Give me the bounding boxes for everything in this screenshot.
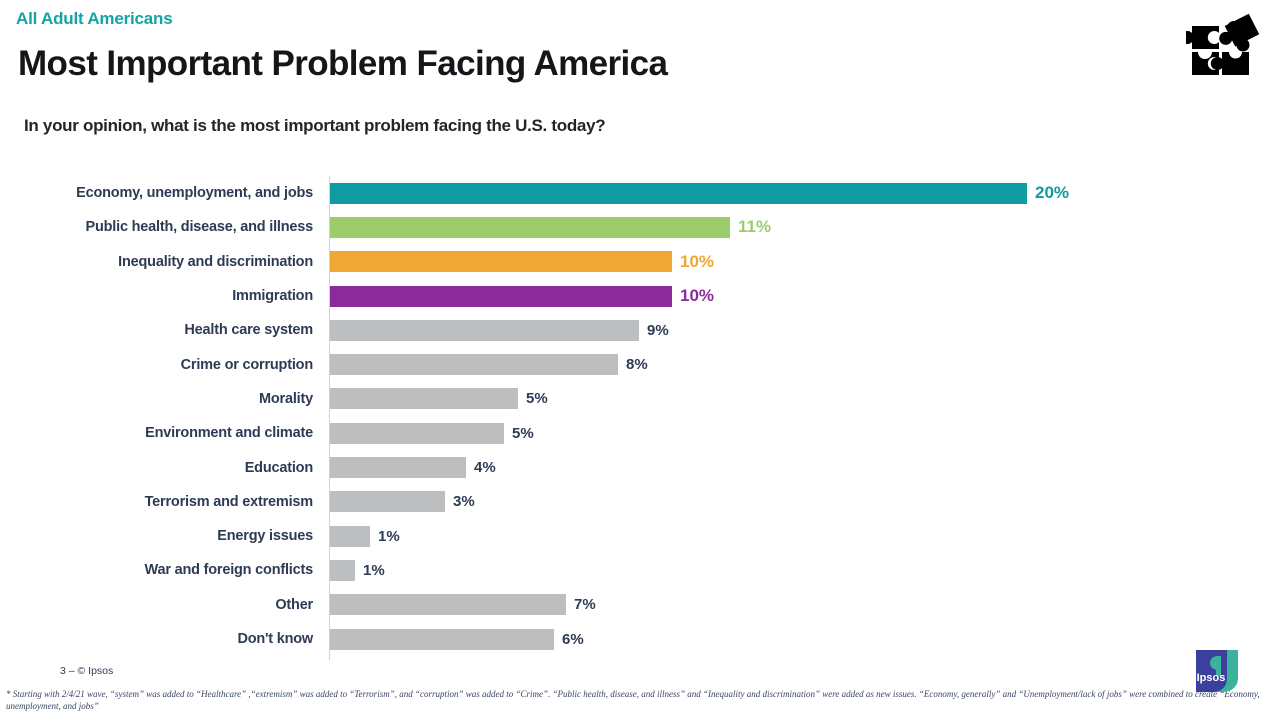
bar[interactable] xyxy=(330,457,466,478)
category-label: Energy issues xyxy=(0,528,313,544)
bar[interactable] xyxy=(330,560,355,581)
bar-area: 1% xyxy=(330,519,1280,553)
page-title: Most Important Problem Facing America xyxy=(18,44,667,84)
bar[interactable] xyxy=(330,423,504,444)
chart-row-5[interactable]: Crime or corruption 8% xyxy=(0,348,1280,382)
value-label: 9% xyxy=(647,322,669,339)
category-label: Other xyxy=(0,597,313,613)
bar[interactable] xyxy=(330,491,445,512)
value-label: 5% xyxy=(526,390,548,407)
value-label: 1% xyxy=(378,528,400,545)
chart-row-3[interactable]: Immigration 10% xyxy=(0,279,1280,313)
chart-row-10[interactable]: Energy issues 1% xyxy=(0,519,1280,553)
audience-eyebrow: All Adult Americans xyxy=(16,9,172,29)
value-label: 20% xyxy=(1035,183,1069,203)
bar[interactable] xyxy=(330,320,639,341)
chart-row-6[interactable]: Morality 5% xyxy=(0,382,1280,416)
puzzle-piece-logo xyxy=(1186,8,1268,86)
svg-text:Ipsos: Ipsos xyxy=(1197,672,1226,684)
category-label: Morality xyxy=(0,391,313,407)
chart-row-8[interactable]: Education 4% xyxy=(0,450,1280,484)
bar[interactable] xyxy=(330,183,1027,204)
bar[interactable] xyxy=(330,526,370,547)
category-label: Crime or corruption xyxy=(0,357,313,373)
bar-chart: Economy, unemployment, and jobs 20% Publ… xyxy=(0,176,1280,660)
bar-area: 4% xyxy=(330,450,1280,484)
bar-area: 1% xyxy=(330,553,1280,587)
bar[interactable] xyxy=(330,629,554,650)
bar[interactable] xyxy=(330,594,566,615)
chart-row-9[interactable]: Terrorism and extremism 3% xyxy=(0,485,1280,519)
bar[interactable] xyxy=(330,286,672,307)
category-label: Immigration xyxy=(0,288,313,304)
chart-row-7[interactable]: Environment and climate 5% xyxy=(0,416,1280,450)
category-label: Education xyxy=(0,460,313,476)
value-label: 7% xyxy=(574,596,596,613)
category-label: War and foreign conflicts xyxy=(0,562,313,578)
bar-area: 5% xyxy=(330,416,1280,450)
chart-row-0[interactable]: Economy, unemployment, and jobs 20% xyxy=(0,176,1280,210)
bar-area: 7% xyxy=(330,588,1280,622)
value-label: 10% xyxy=(680,252,714,272)
value-label: 3% xyxy=(453,493,475,510)
chart-row-2[interactable]: Inequality and discrimination 10% xyxy=(0,245,1280,279)
chart-row-13[interactable]: Don't know 6% xyxy=(0,622,1280,656)
bar-area: 3% xyxy=(330,485,1280,519)
bar-area: 5% xyxy=(330,382,1280,416)
slide-number: 3 – © Ipsos xyxy=(60,665,113,677)
ipsos-logo: Ipsos xyxy=(1194,648,1240,694)
value-label: 1% xyxy=(363,562,385,579)
category-label: Terrorism and extremism xyxy=(0,494,313,510)
bar[interactable] xyxy=(330,388,518,409)
value-label: 5% xyxy=(512,425,534,442)
category-label: Environment and climate xyxy=(0,425,313,441)
bar[interactable] xyxy=(330,217,730,238)
bar-area: 10% xyxy=(330,245,1280,279)
bar-area: 9% xyxy=(330,313,1280,347)
category-label: Economy, unemployment, and jobs xyxy=(0,185,313,201)
chart-row-4[interactable]: Health care system 9% xyxy=(0,313,1280,347)
value-label: 6% xyxy=(562,631,584,648)
chart-row-1[interactable]: Public health, disease, and illness 11% xyxy=(0,210,1280,244)
category-label: Health care system xyxy=(0,322,313,338)
value-label: 4% xyxy=(474,459,496,476)
bar-area: 10% xyxy=(330,279,1280,313)
value-label: 11% xyxy=(738,217,771,237)
bar[interactable] xyxy=(330,354,618,375)
value-label: 8% xyxy=(626,356,648,373)
bar-area: 20% xyxy=(330,176,1280,210)
survey-question: In your opinion, what is the most import… xyxy=(24,116,605,136)
category-label: Public health, disease, and illness xyxy=(0,219,313,235)
bar-area: 11% xyxy=(330,210,1280,244)
category-label: Inequality and discrimination xyxy=(0,254,313,270)
footnote-text: * Starting with 2/4/21 wave, “system” wa… xyxy=(6,688,1276,712)
value-label: 10% xyxy=(680,286,714,306)
bar[interactable] xyxy=(330,251,672,272)
chart-row-11[interactable]: War and foreign conflicts 1% xyxy=(0,553,1280,587)
bar-area: 6% xyxy=(330,622,1280,656)
category-label: Don't know xyxy=(0,631,313,647)
chart-row-12[interactable]: Other 7% xyxy=(0,588,1280,622)
bar-area: 8% xyxy=(330,348,1280,382)
